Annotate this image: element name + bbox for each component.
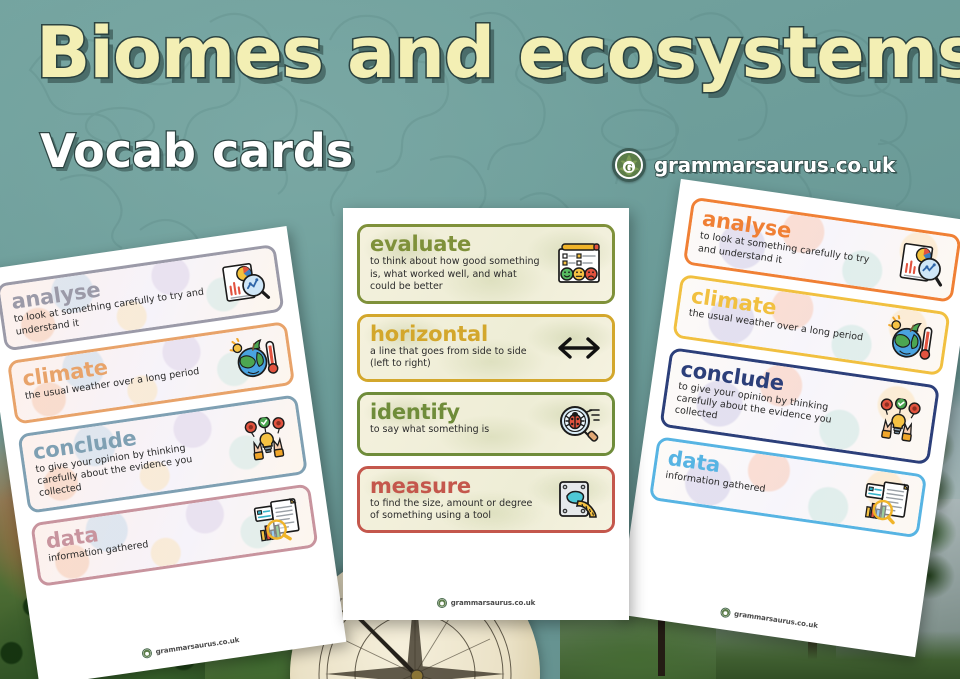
splash-vocab-sheet: analyseto look at something carefully to…	[618, 179, 960, 657]
vocab-word: measure	[370, 476, 540, 497]
dinosaur-head-icon	[437, 598, 447, 608]
earth-thermometer-icon	[883, 314, 939, 365]
vocab-word: horizontal	[370, 324, 540, 345]
pastel-vocab-sheet: analyseto look at something carefully to…	[0, 226, 346, 679]
vocab-definition: to find the size, amount or degree of so…	[370, 498, 540, 522]
sheet-footer: grammarsaurus.co.uk	[357, 598, 615, 610]
vocab-word: evaluate	[370, 234, 540, 255]
leafy-vocab-sheet: evaluateto think about how good somethin…	[343, 208, 629, 620]
earth-thermometer-icon	[227, 332, 283, 383]
chart-report-magnifier-icon	[893, 239, 949, 290]
vocab-definition: a line that goes from side to side (left…	[370, 346, 540, 370]
hands-lightbulb-idea-icon	[239, 413, 295, 464]
vocab-word: identify	[370, 402, 540, 423]
poster-canvas: WE Biomes and ecosystems Vocab cards	[0, 0, 960, 679]
chart-report-magnifier-icon	[216, 257, 272, 308]
vocab-definition: to say what something is	[370, 424, 540, 436]
double-arrow-horizontal-icon	[554, 326, 604, 370]
dinosaur-head-icon	[141, 648, 152, 659]
dinosaur-head-icon	[720, 607, 731, 618]
sheet-footer-text: grammarsaurus.co.uk	[451, 599, 535, 607]
poster-header: Biomes and ecosystems Vocab cards G gram…	[0, 0, 960, 205]
page-title: Biomes and ecosystems	[36, 18, 960, 88]
sheet-footer-text: grammarsaurus.co.uk	[155, 636, 240, 656]
magnifier-bug-icon	[554, 402, 604, 446]
survey-checklist-smiley-icon	[554, 242, 604, 286]
tape-measure-icon	[554, 477, 604, 521]
vocab-definition: to think about how good something is, wh…	[370, 256, 540, 292]
vocab-card[interactable]: measureto find the size, amount or degre…	[357, 466, 615, 534]
page-subtitle: Vocab cards	[40, 128, 353, 174]
vocab-card[interactable]: horizontala line that goes from side to …	[357, 314, 615, 382]
document-bar-chart-magnifier-icon	[250, 494, 306, 545]
sheet-footer-text: grammarsaurus.co.uk	[734, 610, 819, 630]
brand-logo-block[interactable]: G grammarsaurus.co.uk	[612, 148, 895, 182]
svg-text:G: G	[625, 163, 633, 174]
hands-lightbulb-idea-icon	[871, 395, 927, 446]
dinosaur-head-icon: G	[612, 148, 646, 182]
vocab-card[interactable]: evaluateto think about how good somethin…	[357, 224, 615, 304]
brand-text: grammarsaurus.co.uk	[654, 153, 895, 177]
document-bar-chart-magnifier-icon	[859, 476, 915, 527]
vocab-card[interactable]: identifyto say what something is	[357, 392, 615, 456]
